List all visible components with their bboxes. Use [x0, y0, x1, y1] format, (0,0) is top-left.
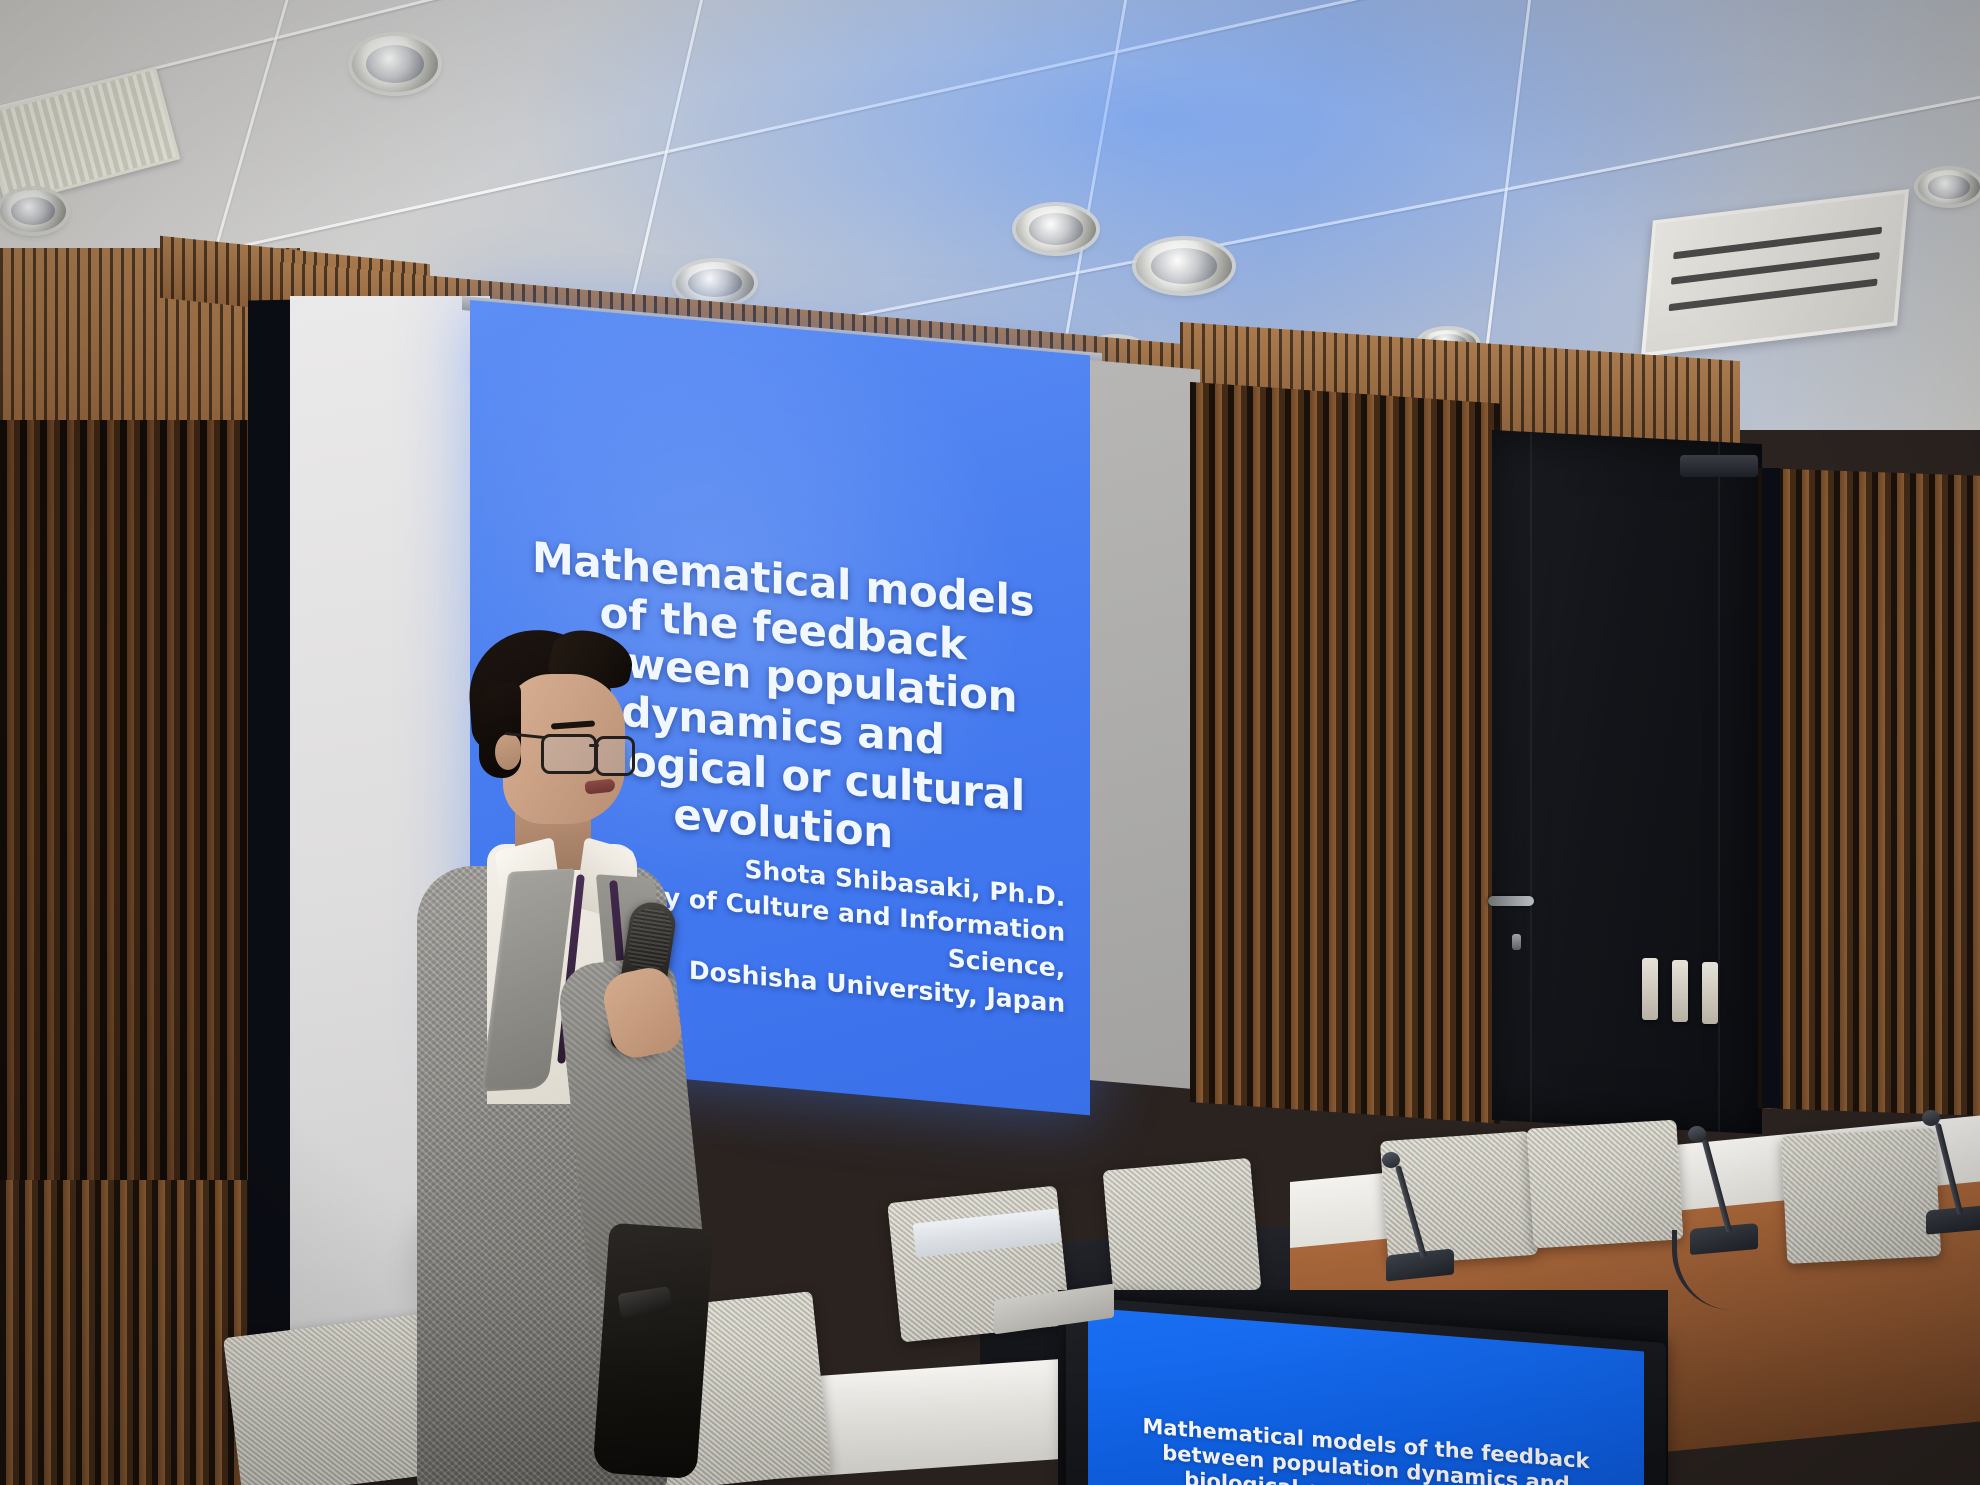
- cabinet-handle[interactable]: [1642, 958, 1658, 1020]
- conference-room-photo: Mathematical models of the feedback betw…: [0, 0, 1980, 1485]
- downlight-icon: [676, 262, 754, 304]
- downlight-icon: [0, 190, 66, 232]
- cabinet-handle[interactable]: [1702, 962, 1718, 1024]
- conference-chair[interactable]: [1103, 1158, 1262, 1302]
- conference-chair[interactable]: [1781, 1128, 1941, 1264]
- gooseneck-microphone-capsule: [1688, 1126, 1706, 1142]
- confidence-monitor-screen: Mathematical models of the feedback betw…: [1088, 1308, 1644, 1485]
- eyeglasses-bridge: [589, 744, 599, 747]
- downlight-icon: [1136, 240, 1232, 292]
- downlight-icon: [1016, 206, 1096, 252]
- gooseneck-conference-microphone[interactable]: [1926, 1205, 1980, 1234]
- door-lever-handle[interactable]: [1488, 896, 1534, 906]
- screen-right-wall: [1090, 360, 1200, 1090]
- door-lock-icon: [1512, 934, 1521, 950]
- door-closer: [1680, 455, 1758, 477]
- downlight-icon: [1918, 170, 1980, 204]
- gooseneck-microphone-capsule: [1382, 1152, 1400, 1168]
- far-right-wood-slat-wall: [1758, 468, 1980, 1116]
- speaker-ear: [495, 734, 521, 770]
- confidence-monitor-title: Mathematical models of the feedback betw…: [1116, 1412, 1616, 1485]
- microphone-grille: [625, 906, 675, 975]
- downlight-icon: [352, 36, 438, 92]
- far-right-recess: [1762, 468, 1780, 1108]
- cabinet-handle[interactable]: [1672, 960, 1688, 1022]
- conference-chair[interactable]: [1526, 1120, 1683, 1249]
- right-wood-slat-wall: [1190, 382, 1500, 1124]
- speaker: [455, 630, 755, 1485]
- eyeglasses-lens-left: [541, 734, 597, 774]
- eyeglasses-lens-right: [595, 736, 635, 776]
- gooseneck-microphone-capsule: [1922, 1110, 1940, 1126]
- room-door[interactable]: [1492, 430, 1762, 1134]
- speaker-bag: [592, 1223, 713, 1480]
